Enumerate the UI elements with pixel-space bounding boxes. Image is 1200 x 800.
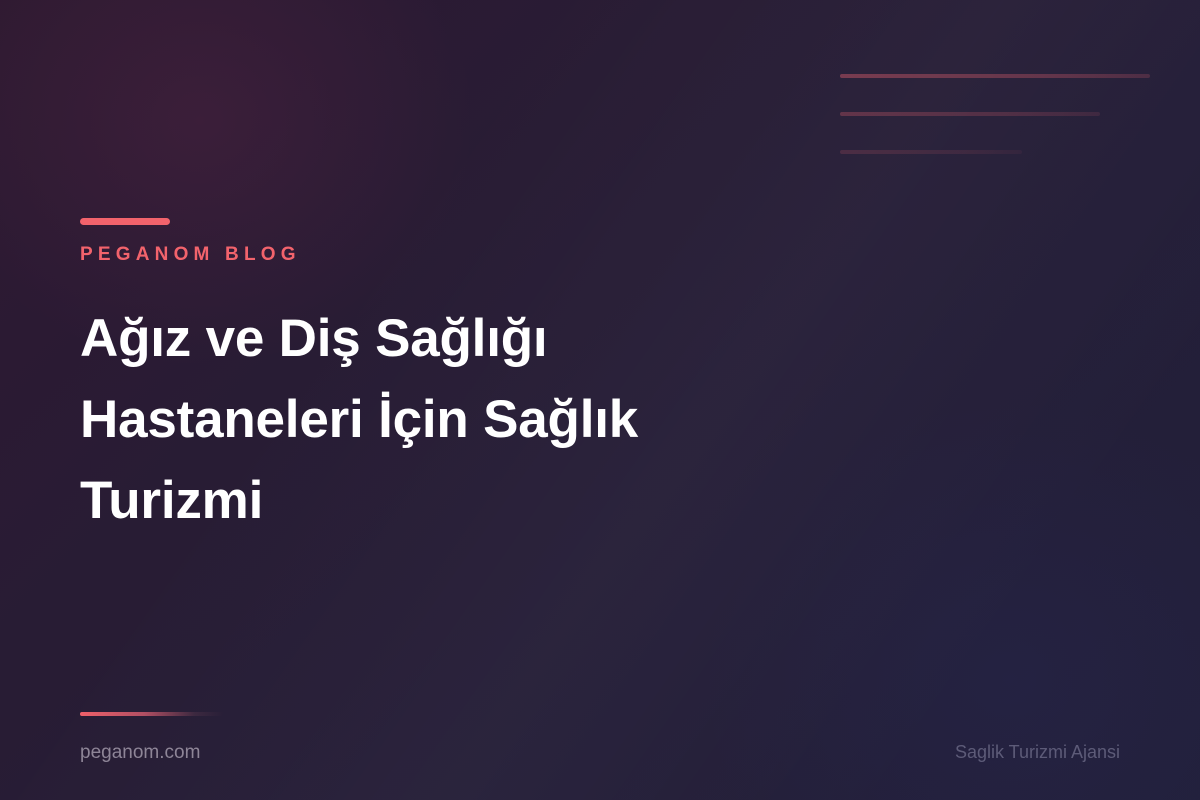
decorative-line-1 (840, 74, 1150, 78)
page-title-line: Ağız ve Diş Sağlığı (80, 298, 780, 379)
page-title: Ağız ve Diş Sağlığı Hastaneleri İçin Sağ… (80, 298, 780, 541)
hero-content: PEGANOM BLOG Ağız ve Diş Sağlığı Hastane… (80, 218, 780, 541)
footer-accent-rule (80, 712, 223, 716)
site-domain: peganom.com (80, 743, 200, 762)
blog-hero-banner: PEGANOM BLOG Ağız ve Diş Sağlığı Hastane… (0, 0, 1200, 800)
page-title-line: Turizmi (80, 460, 780, 541)
decorative-line-3 (840, 150, 1022, 154)
accent-bar (80, 218, 170, 225)
decorative-lines-group (840, 74, 1160, 154)
banner-footer: peganom.com Saglik Turizmi Ajansi (80, 712, 1120, 762)
page-title-line: Hastaneleri İçin Sağlık (80, 379, 780, 460)
decorative-line-2 (840, 112, 1100, 116)
site-tagline: Saglik Turizmi Ajansi (955, 743, 1120, 761)
footer-row: peganom.com Saglik Turizmi Ajansi (80, 743, 1120, 762)
eyebrow-label: PEGANOM BLOG (80, 245, 780, 264)
